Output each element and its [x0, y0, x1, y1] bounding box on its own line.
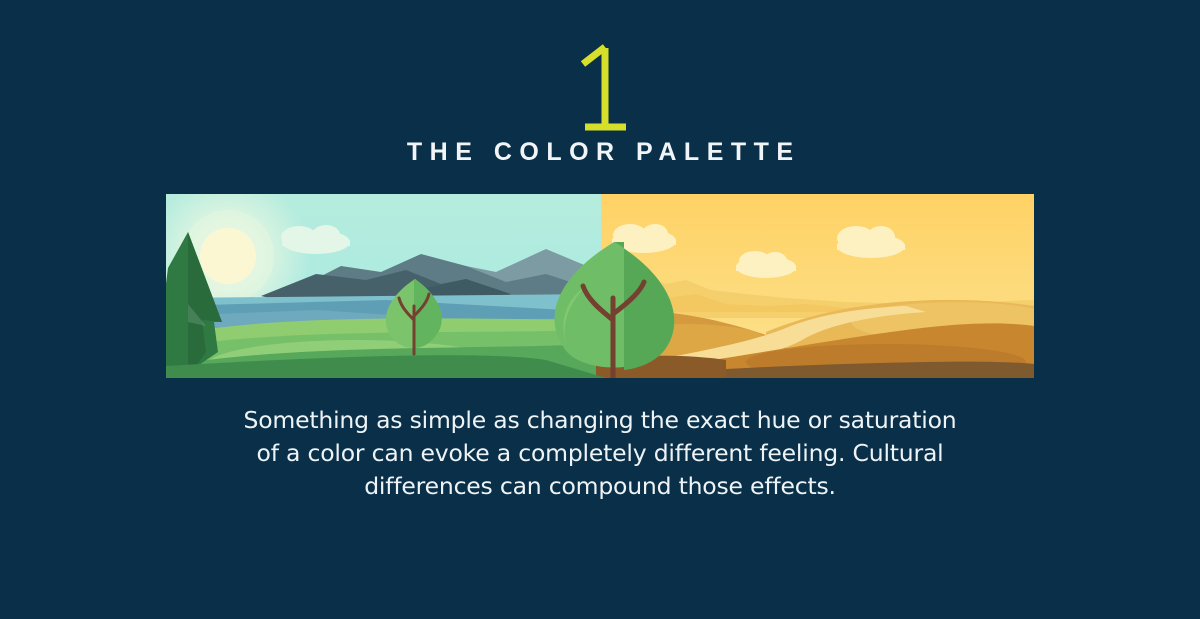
page-title: THE COLOR PALETTE [399, 138, 800, 167]
numeral-one-glyph [569, 43, 631, 133]
slide-root: 1 THE COLOR PALETTE [0, 0, 1200, 619]
left-cool-scene [166, 194, 601, 378]
sun-icon [200, 228, 256, 284]
slide-number: 1 [569, 42, 631, 134]
right-warm-scene [601, 194, 1034, 378]
illustration-banner: A banner illustration split vertically: … [166, 194, 1034, 378]
slide-caption: Something as simple as changing the exac… [240, 404, 960, 503]
split-landscape-illustration: A banner illustration split vertically: … [166, 194, 1034, 378]
